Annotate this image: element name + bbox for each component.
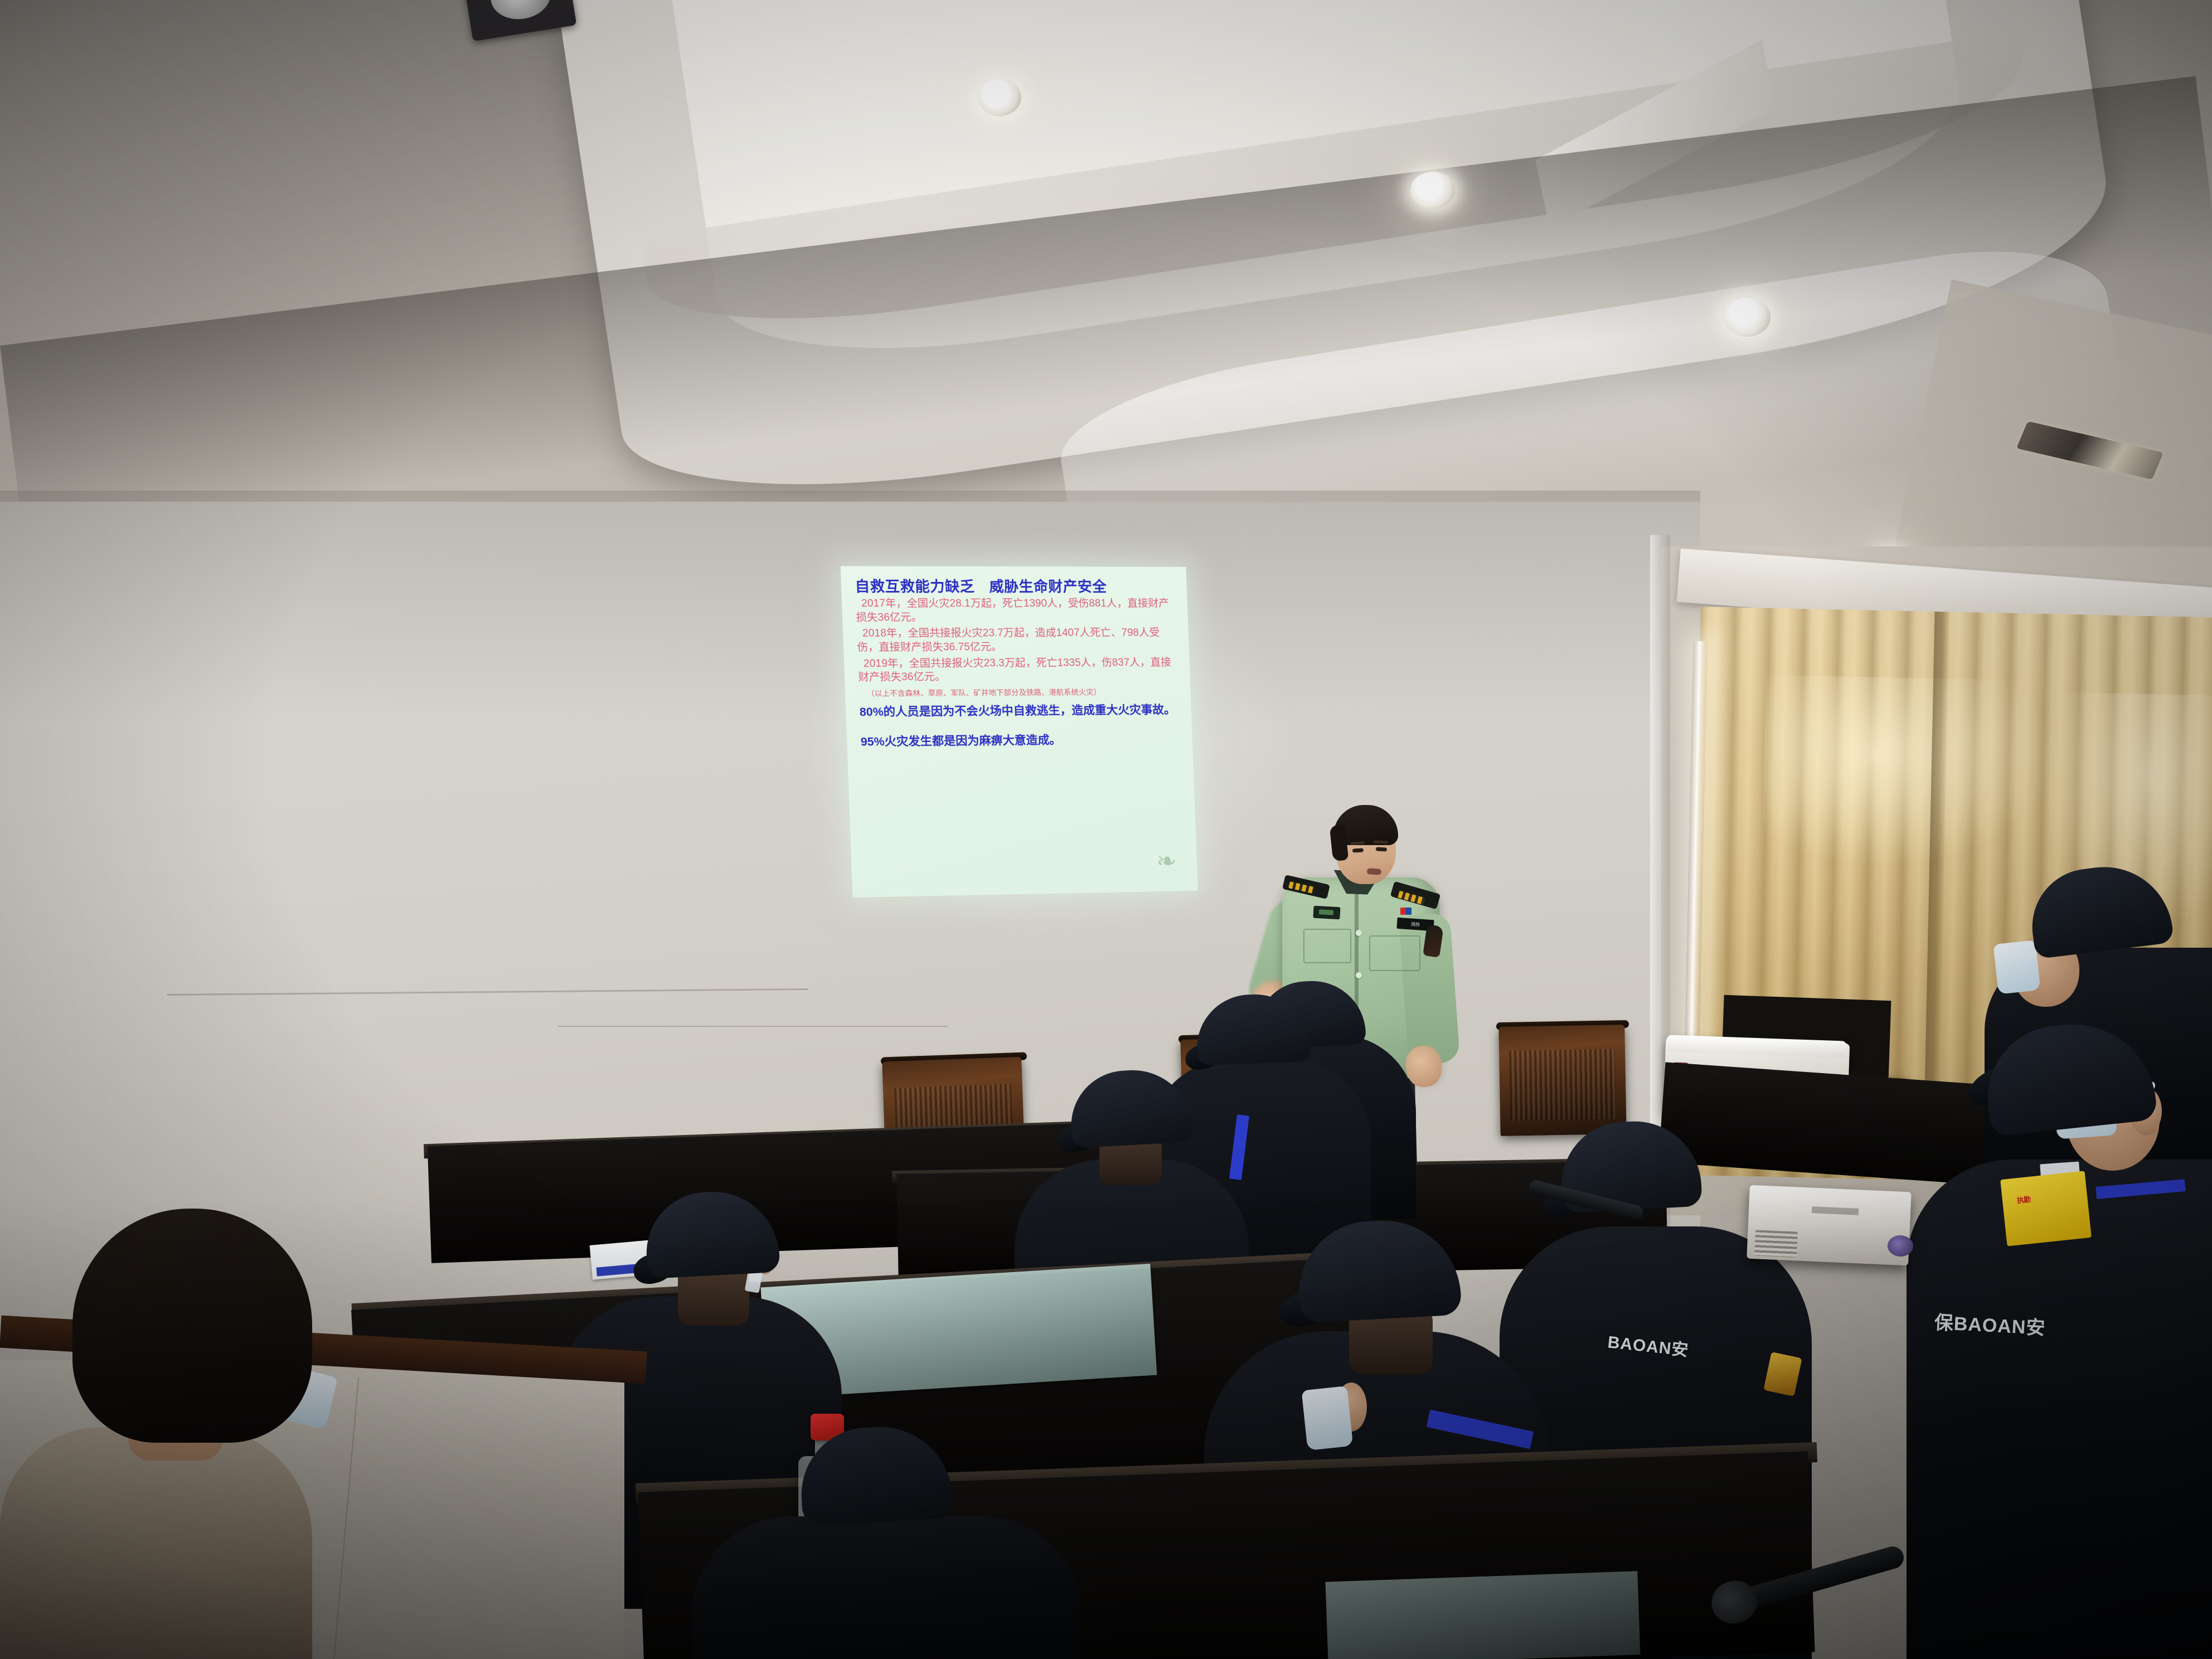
shirt-button-1: [1356, 930, 1362, 936]
downlight-icon-2: [1410, 172, 1455, 208]
presenter-pocket-right: [1369, 935, 1420, 971]
flag-pin-icon: [1400, 908, 1411, 915]
slide-highlight-80: 80%的人员是因为不会火场中自救逃生，造成重大火灾事故。: [859, 703, 1180, 720]
presenter-pocket-left: [1303, 929, 1351, 963]
attendee-1-body: [0, 1427, 312, 1659]
slide-footnote: （以上不含森林、草原、军队、矿井地下部分及铁路、港航系统火灾）: [867, 687, 1180, 698]
lecture-room-photo: 自救互救能力缺乏威胁生命财产安全 2017年，全国火灾28.1万起，死亡1390…: [0, 0, 2212, 1659]
attendee-9-jacket-text: 保BAOAN安: [1934, 1307, 2046, 1340]
presenter-mouth: [1367, 868, 1382, 875]
attendee-10-body: [691, 1516, 1081, 1659]
slide-paragraph-2019: 2019年，全国共接报火灾23.3万起，死亡1335人，伤837人，直接财产损失…: [857, 656, 1179, 685]
wall-scuff-mark-2: [557, 1026, 948, 1027]
desk-glass-top-2: [1326, 1571, 1641, 1659]
slide-corner-logo-icon: ❧: [1156, 849, 1189, 884]
slide-title-right: 威胁生命财产安全: [989, 578, 1107, 595]
attendee-7-duty-armband: [2000, 1171, 2092, 1246]
presenter-name-badge-text: 消防: [1410, 921, 1420, 928]
presenter-eye-right: [1376, 847, 1387, 851]
slide-title: 自救互救能力缺乏威胁生命财产安全: [855, 579, 1176, 595]
attendee-1-hair: [72, 1209, 312, 1443]
slide-paragraph-2017: 2017年，全国火灾28.1万起，死亡1390人，受伤881人，直接财产损失36…: [855, 597, 1177, 625]
slide-paragraph-2018: 2018年，全国共接报火灾23.7万起，造成1407人死亡、798人受伤，直接财…: [856, 627, 1178, 655]
projected-slide: 自救互救能力缺乏威胁生命财产安全 2017年，全国火灾28.1万起，死亡1390…: [841, 566, 1198, 897]
projector-vent: [1754, 1230, 1798, 1257]
presenter-eye-left: [1352, 848, 1364, 852]
slide-title-left: 自救互救能力缺乏: [855, 578, 975, 595]
slide-highlight-95: 95%火灾发生都是因为麻痹大意造成。: [860, 733, 1181, 750]
attendee-7-armband-text: 执勤: [2016, 1194, 2031, 1205]
chair-3[interactable]: [1498, 1025, 1626, 1136]
presenter-chest-patch-emblem: [1319, 909, 1333, 915]
downlight-icon-1: [978, 79, 1021, 116]
attendee-8-face-mask: [1993, 940, 2041, 994]
shirt-button-2: [1356, 972, 1362, 978]
downlight-icon-3: [1724, 298, 1770, 337]
curtain-light-patch-1: [1762, 675, 2056, 871]
attendee-5-face-mask: [1302, 1386, 1354, 1451]
